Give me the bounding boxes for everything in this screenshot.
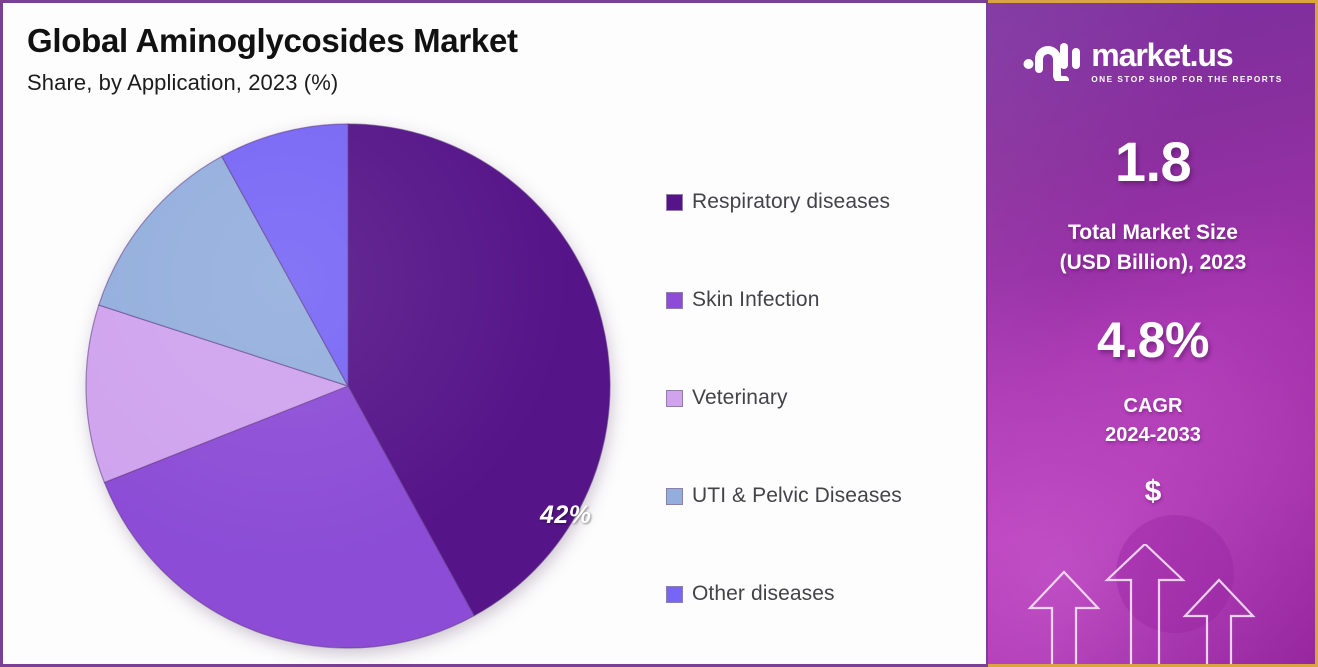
legend-label: Skin Infection — [692, 288, 819, 312]
pie-data-label: 42% — [540, 501, 592, 530]
legend-swatch-icon — [666, 390, 683, 407]
cagr-caption-line-1: CAGR — [988, 392, 1318, 421]
logo-tagline: ONE STOP SHOP FOR THE REPORTS — [1091, 74, 1282, 84]
market-size-value: 1.8 — [988, 129, 1318, 194]
growth-arrows-icon — [988, 544, 1318, 664]
cagr-value: 4.8% — [988, 311, 1318, 369]
cagr-caption-line-2: 2024-2033 — [988, 421, 1318, 450]
legend-item-veterinary[interactable]: Veterinary — [666, 349, 976, 447]
logo-wordmark: market.us — [1091, 39, 1282, 71]
cagr-caption: CAGR 2024-2033 — [988, 392, 1318, 449]
pie-gloss-overlay — [86, 124, 610, 648]
market-infographic: Global Aminoglycosides Market Share, by … — [0, 0, 1318, 667]
title-block: Global Aminoglycosides Market Share, by … — [27, 23, 747, 96]
chart-legend: Respiratory diseases Skin Infection Vete… — [666, 153, 976, 643]
legend-label: UTI & Pelvic Diseases — [692, 484, 902, 508]
legend-swatch-icon — [666, 292, 683, 309]
market-size-caption-line-1: Total Market Size — [988, 218, 1318, 248]
brand-panel: market.us ONE STOP SHOP FOR THE REPORTS … — [988, 0, 1318, 667]
pie-svg — [85, 123, 615, 653]
legend-item-other-diseases[interactable]: Other diseases — [666, 545, 976, 643]
legend-item-respiratory-diseases[interactable]: Respiratory diseases — [666, 153, 976, 251]
legend-item-uti-pelvic-diseases[interactable]: UTI & Pelvic Diseases — [666, 447, 976, 545]
chart-subtitle: Share, by Application, 2023 (%) — [27, 70, 747, 96]
legend-swatch-icon — [666, 586, 683, 603]
legend-label: Other diseases — [692, 582, 835, 606]
legend-label: Respiratory diseases — [692, 190, 890, 214]
legend-item-skin-infection[interactable]: Skin Infection — [666, 251, 976, 349]
market-us-logo-type: market.us ONE STOP SHOP FOR THE REPORTS — [1091, 39, 1282, 84]
market-us-logo[interactable]: market.us ONE STOP SHOP FOR THE REPORTS — [988, 37, 1318, 86]
chart-panel: Global Aminoglycosides Market Share, by … — [0, 0, 988, 667]
legend-swatch-icon — [666, 488, 683, 505]
dollar-sign-icon: $ — [988, 475, 1318, 509]
legend-swatch-icon — [666, 194, 683, 211]
legend-label: Veterinary — [692, 386, 788, 410]
market-us-logo-mark-icon — [1023, 37, 1081, 86]
market-size-caption-line-2: (USD Billion), 2023 — [988, 248, 1318, 278]
pie-chart: 42% — [85, 123, 615, 655]
market-size-caption: Total Market Size (USD Billion), 2023 — [988, 218, 1318, 278]
page-title: Global Aminoglycosides Market — [27, 23, 747, 59]
